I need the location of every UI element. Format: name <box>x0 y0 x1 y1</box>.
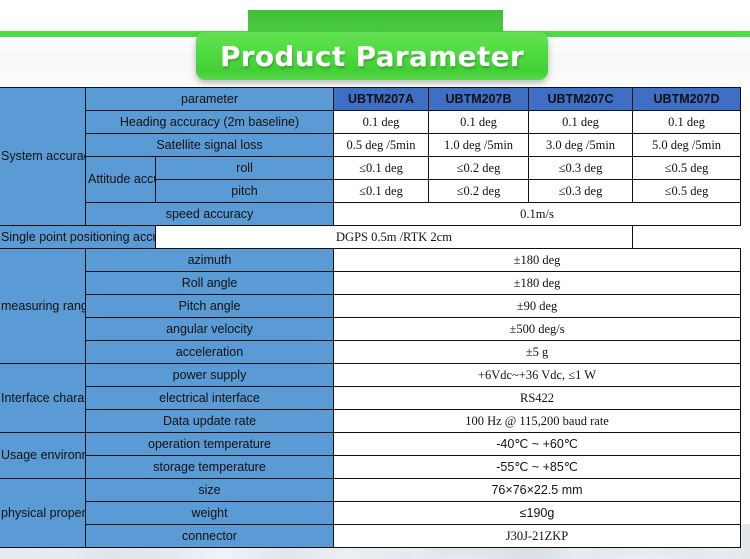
cell-heading-accuracy-d: 0.1 deg <box>633 111 741 134</box>
cell-roll-a: ≤0.1 deg <box>334 157 429 180</box>
row-label-heading-accuracy: Heading accuracy (2m baseline) <box>86 111 334 134</box>
table-row: Satellite signal loss 0.5 deg /5min 1.0 … <box>0 134 741 157</box>
cell-electrical-interface: RS422 <box>334 387 741 410</box>
cell-heading-accuracy-b: 0.1 deg <box>429 111 529 134</box>
table-row: weight ≤190g <box>0 502 741 525</box>
row-label-acceleration: acceleration <box>86 341 334 364</box>
cell-acceleration: ±5 g <box>334 341 741 364</box>
group-label-measuring-range: measuring range <box>0 249 86 364</box>
cell-satellite-signal-loss-d: 5.0 deg /5min <box>633 134 741 157</box>
cell-azimuth: ±180 deg <box>334 249 741 272</box>
row-label-pitch: pitch <box>156 180 334 203</box>
cell-heading-accuracy-c: 0.1 deg <box>529 111 633 134</box>
row-label-roll: roll <box>156 157 334 180</box>
table-row: connector J30J-21ZKP <box>0 525 741 548</box>
column-header-model-c: UBTM207C <box>529 88 633 111</box>
cell-roll-angle: ±180 deg <box>334 272 741 295</box>
row-label-weight: weight <box>86 502 334 525</box>
table-row: Interface characteristics power supply +… <box>0 364 741 387</box>
table-row: Single point positioning accuracy DGPS 0… <box>0 226 741 249</box>
banner-backplate <box>248 10 503 34</box>
row-label-data-update-rate: Data update rate <box>86 410 334 433</box>
table-row: speed accuracy 0.1m/s <box>0 203 741 226</box>
table-header-row: System accuracy parameter UBTM207A UBTM2… <box>0 88 741 111</box>
cell-size: 76×76×22.5 mm <box>334 479 741 502</box>
table-row: measuring range azimuth ±180 deg <box>0 249 741 272</box>
table-row: Attitude accurac roll ≤0.1 deg ≤0.2 deg … <box>0 157 741 180</box>
cell-satellite-signal-loss-c: 3.0 deg /5min <box>529 134 633 157</box>
row-label-operation-temperature: operation temperature <box>86 433 334 456</box>
cell-pitch-a: ≤0.1 deg <box>334 180 429 203</box>
product-parameter-banner: Product Parameter <box>196 32 548 80</box>
row-label-angular-velocity: angular velocity <box>86 318 334 341</box>
row-label-azimuth: azimuth <box>86 249 334 272</box>
table-row: Roll angle ±180 deg <box>0 272 741 295</box>
cell-roll-b: ≤0.2 deg <box>429 157 529 180</box>
group-label-physical-property: physical property <box>0 479 86 548</box>
row-label-pitch-angle: Pitch angle <box>86 295 334 318</box>
cell-pitch-angle: ±90 deg <box>334 295 741 318</box>
page-title: Product Parameter <box>220 40 524 73</box>
row-label-electrical-interface: electrical interface <box>86 387 334 410</box>
row-label-connector: connector <box>86 525 334 548</box>
cell-heading-accuracy-a: 0.1 deg <box>334 111 429 134</box>
cell-pitch-d: ≤0.5 deg <box>633 180 741 203</box>
table-row: acceleration ±5 g <box>0 341 741 364</box>
table-row: Usage environment operation temperature … <box>0 433 741 456</box>
row-label-satellite-signal-loss: Satellite signal loss <box>86 134 334 157</box>
row-label-power-supply: power supply <box>86 364 334 387</box>
cell-storage-temperature: -55℃ ~ +85℃ <box>334 456 741 479</box>
group-label-interface-characteristics: Interface characteristics <box>0 364 86 433</box>
column-header-model-b: UBTM207B <box>429 88 529 111</box>
table-row: storage temperature -55℃ ~ +85℃ <box>0 456 741 479</box>
column-header-model-a: UBTM207A <box>334 88 429 111</box>
group-label-usage-environment: Usage environment <box>0 433 86 479</box>
specification-table: System accuracy parameter UBTM207A UBTM2… <box>0 87 741 548</box>
group-label-system-accuracy: System accuracy <box>0 88 86 226</box>
table-row: Heading accuracy (2m baseline) 0.1 deg 0… <box>0 111 741 134</box>
cell-weight: ≤190g <box>334 502 741 525</box>
cell-operation-temperature: -40℃ ~ +60℃ <box>334 433 741 456</box>
column-header-parameter: parameter <box>86 88 334 111</box>
table-row: Pitch angle ±90 deg <box>0 295 741 318</box>
cell-satellite-signal-loss-a: 0.5 deg /5min <box>334 134 429 157</box>
cell-pitch-b: ≤0.2 deg <box>429 180 529 203</box>
table-row: electrical interface RS422 <box>0 387 741 410</box>
cell-single-point-positioning: DGPS 0.5m /RTK 2cm <box>156 226 633 249</box>
table-row: angular velocity ±500 deg/s <box>0 318 741 341</box>
row-label-single-point-positioning: Single point positioning accuracy <box>0 226 156 249</box>
cell-speed-accuracy: 0.1m/s <box>334 203 741 226</box>
table-row: Data update rate 100 Hz @ 115,200 baud r… <box>0 410 741 433</box>
row-label-roll-angle: Roll angle <box>86 272 334 295</box>
cell-pitch-c: ≤0.3 deg <box>529 180 633 203</box>
cell-roll-c: ≤0.3 deg <box>529 157 633 180</box>
row-label-storage-temperature: storage temperature <box>86 456 334 479</box>
column-header-model-d: UBTM207D <box>633 88 741 111</box>
row-label-speed-accuracy: speed accuracy <box>86 203 334 226</box>
cell-angular-velocity: ±500 deg/s <box>334 318 741 341</box>
cell-power-supply: +6Vdc~+36 Vdc, ≤1 W <box>334 364 741 387</box>
cell-roll-d: ≤0.5 deg <box>633 157 741 180</box>
row-sublabel-attitude-accuracy: Attitude accurac <box>86 157 156 203</box>
cell-data-update-rate: 100 Hz @ 115,200 baud rate <box>334 410 741 433</box>
cell-connector: J30J-21ZKP <box>334 525 741 548</box>
row-label-size: size <box>86 479 334 502</box>
cell-satellite-signal-loss-b: 1.0 deg /5min <box>429 134 529 157</box>
table-row: physical property size 76×76×22.5 mm <box>0 479 741 502</box>
